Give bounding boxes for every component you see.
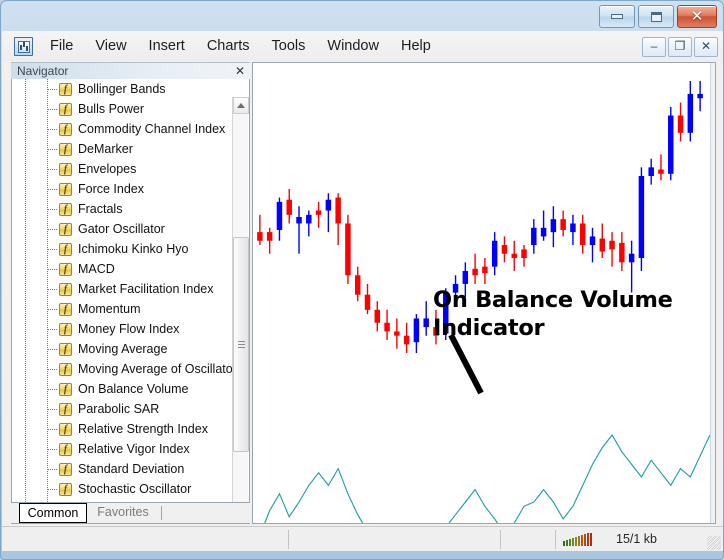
signal-bar [590,533,592,546]
candle-body [639,176,644,258]
function-icon: f [59,443,72,456]
navigator-header: Navigator ✕ [11,62,250,80]
navigator-item-label: Bollinger Bands [78,82,166,96]
navigator-item-label: Parabolic SAR [78,402,159,416]
navigator-item-bulls-power[interactable]: fBulls Power [12,99,249,119]
navigator-item-label: Commodity Channel Index [78,122,225,136]
navigator-item-label: Moving Average of Oscillator [78,362,237,376]
navigator-item-moving-average-of-oscillator[interactable]: fMoving Average of Oscillator [12,359,249,379]
navigator-item-bollinger-bands[interactable]: fBollinger Bands [12,79,249,99]
function-icon: f [59,183,72,196]
status-separator-1 [288,530,289,549]
tree-connector [48,489,57,490]
tree-connector [48,349,57,350]
navigator-item-label: MACD [78,262,115,276]
candle-body [502,245,507,254]
chart-scrollbar[interactable] [710,63,715,523]
menu-item-tools[interactable]: Tools [261,35,317,57]
candle-body [551,219,556,232]
candle-body [580,223,585,245]
function-icon: f [59,263,72,276]
navigator-item-label: Stochastic Oscillator [78,482,191,496]
navigator-item-label: Moving Average [78,342,167,356]
navigator-scrollbar[interactable] [232,97,248,503]
scroll-up-button[interactable] [233,97,249,114]
function-icon: f [59,143,72,156]
status-bar: 15/1 kb [2,526,723,551]
minimize-icon [611,14,623,19]
navigator-item-label: Market Facilitation Index [78,282,213,296]
navigator-item-money-flow-index[interactable]: fMoney Flow Index [12,319,249,339]
resize-grip-icon[interactable] [707,536,721,550]
candle-body [629,254,634,263]
function-icon: f [59,283,72,296]
candle-body [648,167,653,176]
candle-body [697,94,702,98]
signal-bar [569,539,571,546]
function-icon: f [59,363,72,376]
annotation-arrow [451,335,481,393]
client-area: Navigator ✕ fBollinger BandsfBulls Power… [2,61,723,526]
navigator-item-label: Money Flow Index [78,322,179,336]
navigator-rows: fBollinger BandsfBulls PowerfCommodity C… [12,79,249,503]
annotation-line-2: Indicator [433,314,713,342]
candle-body [678,116,683,133]
navigator-item-label: Gator Oscillator [78,222,165,236]
navigator-item-ichimoku-kinko-hyo[interactable]: fIchimoku Kinko Hyo [12,239,249,259]
function-icon: f [59,323,72,336]
function-icon: f [59,103,72,116]
signal-bar [566,540,568,546]
candle-body [482,267,487,273]
navigator-item-on-balance-volume[interactable]: fOn Balance Volume [12,379,249,399]
candle-body [668,116,673,174]
annotation-line-1: On Balance Volume [433,286,713,314]
menu-item-view[interactable]: View [84,35,137,57]
navigator-title: Navigator [17,64,68,78]
navigator-item-label: Envelopes [78,162,136,176]
navigator-item-label: Fractals [78,202,122,216]
function-icon: f [59,203,72,216]
menu-item-insert[interactable]: Insert [138,35,196,57]
navigator-item-relative-vigor-index[interactable]: fRelative Vigor Index [12,439,249,459]
signal-bar [584,534,586,546]
menu-bar: File View Insert Charts Tools Window Hel… [2,31,723,61]
tree-connector [48,329,57,330]
tree-connector [48,209,57,210]
function-icon: f [59,383,72,396]
candle-body [326,200,331,211]
chart-window[interactable]: On Balance Volume Indicator [252,62,716,524]
tree-connector [48,249,57,250]
signal-bar [563,541,565,546]
candle-body [619,243,624,262]
menu-item-window[interactable]: Window [316,35,390,57]
candle-body [590,236,595,245]
chart-annotation: On Balance Volume Indicator [433,286,713,342]
candle-body [472,269,477,275]
navigator-item-relative-strength-index[interactable]: fRelative Strength Index [12,419,249,439]
chevron-up-icon [237,103,245,108]
navigator-item-force-index[interactable]: fForce Index [12,179,249,199]
connection-signal-icon [563,533,592,546]
tree-connector [48,169,57,170]
scrollbar-thumb[interactable] [233,237,249,452]
tree-connector [48,429,57,430]
candle-body [375,310,380,323]
tree-connector [48,189,57,190]
navigator-item-macd[interactable]: fMACD [12,259,249,279]
application-window: ✕ File View Insert Charts Tools Window H… [0,0,724,560]
candle-body [355,275,360,294]
navigator-item-moving-average[interactable]: fMoving Average [12,339,249,359]
navigator-item-envelopes[interactable]: fEnvelopes [12,159,249,179]
function-icon: f [59,243,72,256]
window-controls: ✕ [599,5,717,28]
status-separator-3 [555,530,556,549]
navigator-item-parabolic-sar[interactable]: fParabolic SAR [12,399,249,419]
candle-body [609,241,614,250]
traffic-label: 15/1 kb [616,532,657,546]
signal-bar [587,533,589,546]
candle-body [316,211,321,215]
navigator-item-fractals[interactable]: fFractals [12,199,249,219]
tree-connector [48,449,57,450]
status-separator-2 [500,530,501,549]
metatrader-icon [14,37,33,56]
close-icon: ✕ [691,9,704,24]
tree-connector [48,369,57,370]
maximize-button[interactable] [638,5,674,28]
candle-body [423,318,428,327]
menu-item-help[interactable]: Help [390,35,442,57]
candle-body [531,228,536,245]
tree-connector [48,309,57,310]
function-icon: f [59,83,72,96]
candle-body [600,239,605,252]
candle-body [335,198,340,224]
candle-body [394,331,399,335]
candle-body [658,170,663,174]
tree-connector [48,109,57,110]
navigator-item-gator-oscillator[interactable]: fGator Oscillator [12,219,249,239]
mdi-restore-button[interactable]: ❐ [668,37,692,57]
candle-body [384,323,389,332]
navigator-item-label: Bulls Power [78,102,144,116]
function-icon: f [59,483,72,496]
candle-body [492,241,497,267]
candle-body [365,295,370,310]
navigator-item-label: On Balance Volume [78,382,189,396]
function-icon: f [59,343,72,356]
function-icon: f [59,303,72,316]
navigator-item-label: Relative Strength Index [78,422,208,436]
navigator-panel: Navigator ✕ fBollinger BandsfBulls Power… [11,62,250,524]
candle-body [570,223,575,232]
menu-item-charts[interactable]: Charts [196,35,261,57]
navigator-item-momentum[interactable]: fMomentum [12,299,249,319]
tree-connector [48,409,57,410]
candle-body [306,215,311,224]
candle-body [521,249,526,258]
tree-connector [48,389,57,390]
navigator-item-label: Ichimoku Kinko Hyo [78,242,188,256]
candle-body [541,228,546,237]
grip-icon [238,341,245,348]
function-icon: f [59,223,72,236]
candle-body [257,232,262,241]
menu-item-file[interactable]: File [39,35,84,57]
tab-common[interactable]: Common [19,503,87,523]
navigator-tabs: Common Favorites [11,503,250,524]
candle-body [414,318,419,342]
candle-body [277,202,282,230]
navigator-tree[interactable]: fBollinger BandsfBulls PowerfCommodity C… [11,79,250,503]
navigator-item-commodity-channel-index[interactable]: fCommodity Channel Index [12,119,249,139]
mdi-window-controls: – ❐ ✕ [642,37,718,57]
navigator-item-standard-deviation[interactable]: fStandard Deviation [12,459,249,479]
tree-connector [48,149,57,150]
function-icon: f [59,123,72,136]
navigator-close-icon[interactable]: ✕ [235,64,245,78]
tree-connector [48,269,57,270]
signal-bar [572,538,574,546]
title-bar: ✕ [1,1,723,31]
navigator-item-demarker[interactable]: fDeMarker [12,139,249,159]
candle-body [267,232,272,241]
navigator-item-label: Momentum [78,302,141,316]
close-button[interactable]: ✕ [677,5,717,28]
mdi-minimize-button[interactable]: – [642,37,666,57]
navigator-item-label: Force Index [78,182,144,196]
navigator-item-market-facilitation-index[interactable]: fMarket Facilitation Index [12,279,249,299]
candle-body [688,94,693,133]
tree-connector [48,129,57,130]
tree-connector [48,469,57,470]
minimize-button[interactable] [599,5,635,28]
signal-bar [578,536,580,546]
candle-body [560,219,565,230]
signal-bar [575,537,577,546]
signal-bar [581,535,583,546]
tab-favorites[interactable]: Favorites [89,503,157,523]
candle-body [512,254,517,258]
candle-body [296,217,301,223]
mdi-close-button[interactable]: ✕ [694,37,718,57]
obv-line [260,435,710,523]
navigator-item-label: Standard Deviation [78,462,184,476]
candle-body [345,223,350,275]
candle-body [463,271,468,284]
function-icon: f [59,463,72,476]
tab-separator [161,506,162,520]
candle-body [404,336,409,345]
navigator-item-label: DeMarker [78,142,133,156]
maximize-icon [651,12,662,22]
function-icon: f [59,423,72,436]
navigator-item-stochastic-oscillator[interactable]: fStochastic Oscillator [12,479,249,499]
tree-connector [48,289,57,290]
candle-body [287,200,292,215]
navigator-item-label: Relative Vigor Index [78,442,190,456]
tree-connector [48,229,57,230]
function-icon: f [59,163,72,176]
tree-connector [48,89,57,90]
function-icon: f [59,403,72,416]
